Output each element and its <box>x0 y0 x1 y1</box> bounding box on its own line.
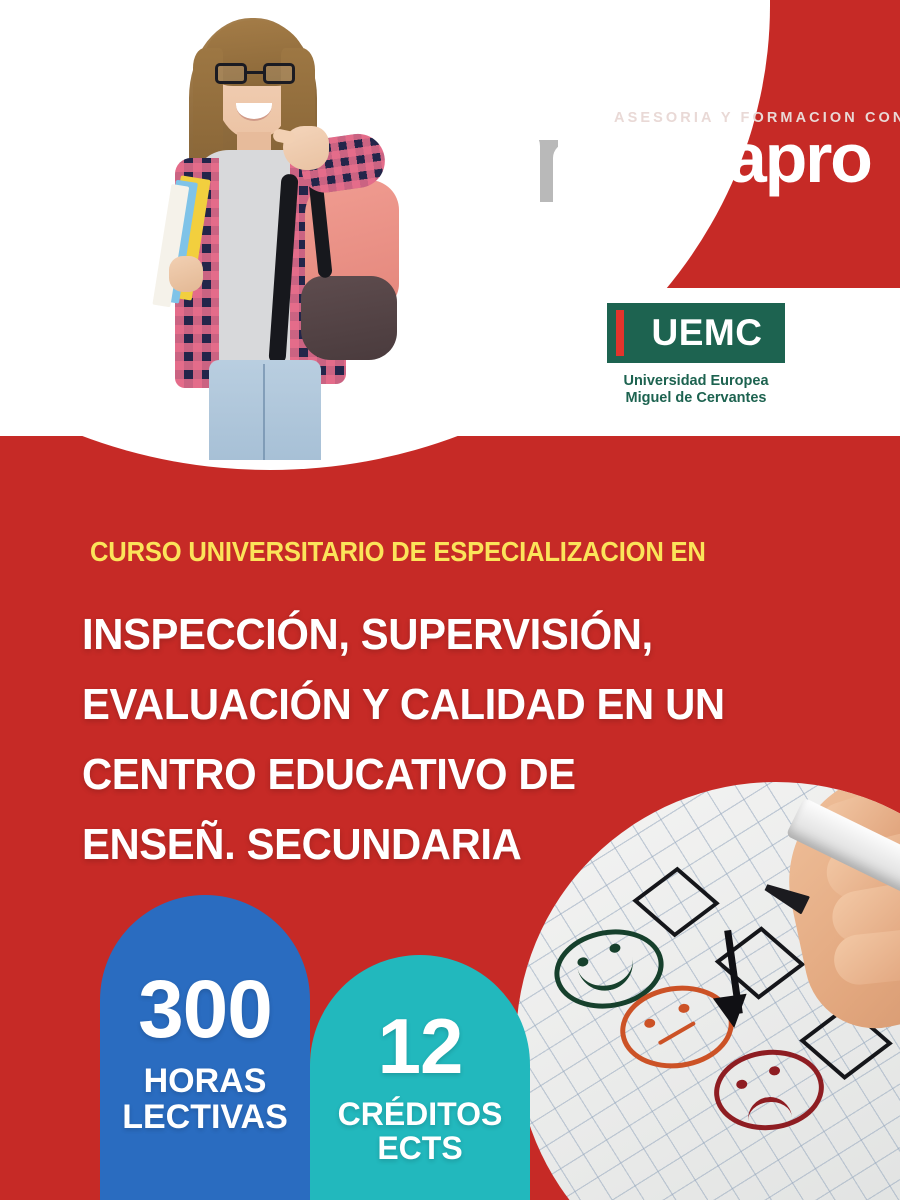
two-people-icon <box>500 96 592 202</box>
sad-face-eye-right <box>769 1066 781 1076</box>
badge-credits: 12 CRÉDITOS ECTS <box>310 955 530 1200</box>
course-poster: ASESORIA Y FORMACION CONTINUA novapro UE… <box>0 0 900 1200</box>
badge-credits-number: 12 <box>310 1007 530 1085</box>
badge-hours-number: 300 <box>100 969 310 1051</box>
course-title: INSPECCIÓN, SUPERVISIÓN, EVALUACIÓN Y CA… <box>82 600 872 880</box>
badge-hours-label-line1: HORAS <box>100 1063 310 1099</box>
uemc-red-bar <box>616 310 624 356</box>
student-holding-hand <box>169 256 203 292</box>
badge-credits-label-line1: CRÉDITOS <box>310 1097 530 1131</box>
uemc-subtitle: Universidad Europea Miguel de Cervantes <box>596 373 796 407</box>
badge-hours-label: HORAS LECTIVAS <box>100 1063 310 1135</box>
student-jeans <box>209 360 321 460</box>
student-jeans-seam <box>263 364 265 460</box>
student-photo <box>105 8 405 460</box>
happy-face-eye-right <box>609 943 621 954</box>
neutral-face-mouth <box>658 1021 696 1045</box>
sad-face-icon <box>710 1044 828 1135</box>
neutral-face-eye-left <box>644 1018 656 1028</box>
novapro-logo: ASESORIA Y FORMACION CONTINUA novapro <box>500 96 880 202</box>
uemc-logo: UEMC Universidad Europea Miguel de Cerva… <box>596 303 796 421</box>
sad-face-eye-left <box>736 1079 748 1089</box>
badge-hours: 300 HORAS LECTIVAS <box>100 895 310 1200</box>
uemc-subtitle-line2: Miguel de Cervantes <box>596 390 796 407</box>
glasses-icon <box>215 63 295 85</box>
course-title-line-2: EVALUACIÓN Y CALIDAD EN UN <box>82 670 833 740</box>
badge-credits-label-line2: ECTS <box>310 1131 530 1165</box>
badge-hours-label-line2: LECTIVAS <box>100 1099 310 1135</box>
glasses-lens-right <box>263 63 295 84</box>
uemc-badge: UEMC <box>607 303 785 363</box>
check-arrow-head <box>713 994 751 1030</box>
course-title-line-1: INSPECCIÓN, SUPERVISIÓN, <box>82 600 833 670</box>
novapro-wordmark: novapro <box>610 120 871 196</box>
backpack-lower <box>301 276 397 360</box>
course-title-line-4: ENSEÑ. SECUNDARIA <box>82 810 833 880</box>
neutral-face-eye-right <box>678 1003 690 1013</box>
badge-credits-label: CRÉDITOS ECTS <box>310 1097 530 1165</box>
glasses-bridge <box>247 71 263 74</box>
uemc-acronym: UEMC <box>637 303 777 363</box>
sad-face-mouth <box>746 1095 793 1126</box>
uemc-subtitle-line1: Universidad Europea <box>596 373 796 390</box>
course-title-line-3: CENTRO EDUCATIVO DE <box>82 740 833 810</box>
glasses-lens-left <box>215 63 247 84</box>
course-kicker: CURSO UNIVERSITARIO DE ESPECIALIZACION E… <box>90 536 797 568</box>
